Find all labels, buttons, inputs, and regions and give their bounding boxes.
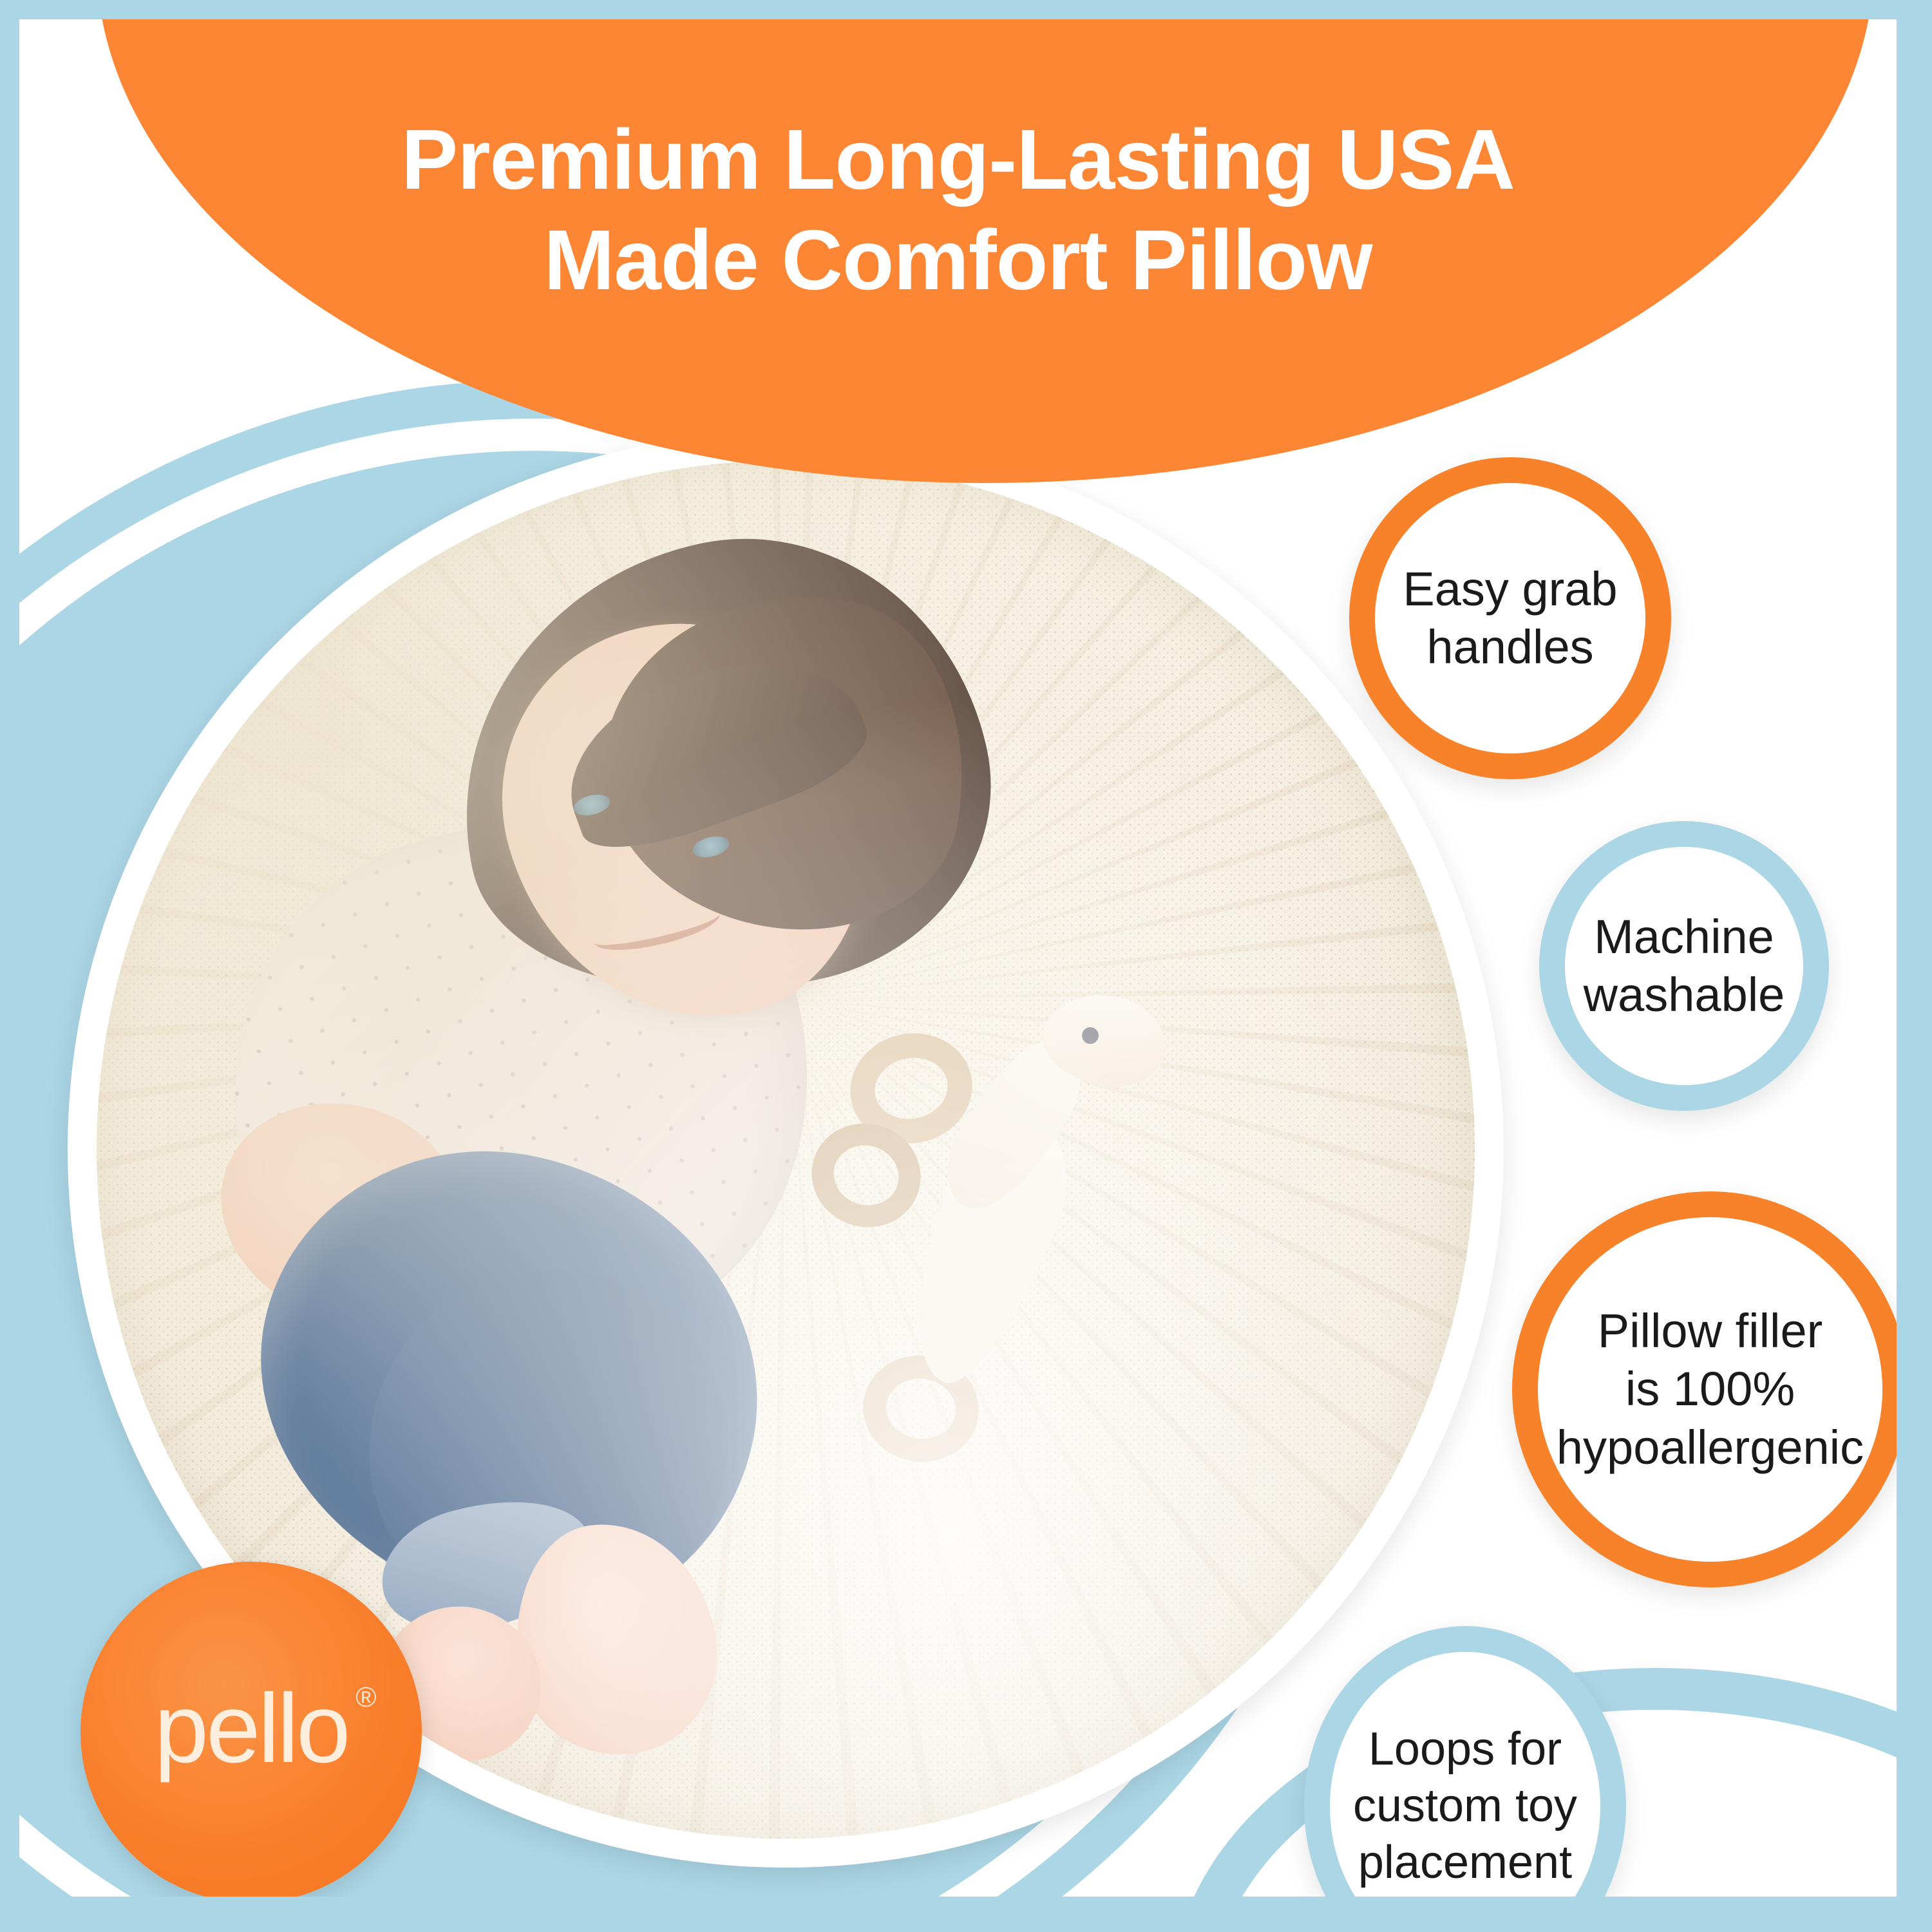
feature-label-machine-washable: Machinewashable: [1569, 908, 1799, 1025]
feature-label-easy-grab-handles: Easy grabhandles: [1388, 560, 1631, 677]
feature-bubble-machine-washable[interactable]: Machinewashable: [1539, 821, 1829, 1111]
page-title-line-2: Made Comfort Pillow: [544, 213, 1372, 307]
page-title-line-1: Premium Long-Lasting USA: [401, 112, 1515, 207]
page-title: Premium Long-Lasting USA Made Comfort Pi…: [19, 109, 1897, 310]
feature-bubble-hypoallergenic[interactable]: Pillow filleris 100%hypoallergenic: [1512, 1191, 1897, 1587]
pello-logo-badge[interactable]: pello ®: [80, 1562, 422, 1897]
pello-logo-text: pello: [154, 1674, 348, 1783]
page-frame: Premium Long-Lasting USA Made Comfort Pi…: [0, 0, 1932, 1932]
registered-trademark-icon: ®: [355, 1683, 376, 1712]
feature-label-hypoallergenic: Pillow filleris 100%hypoallergenic: [1542, 1302, 1878, 1477]
feature-bubble-easy-grab-handles[interactable]: Easy grabhandles: [1349, 457, 1671, 779]
content-card: Premium Long-Lasting USA Made Comfort Pi…: [19, 19, 1897, 1897]
pello-wordmark: pello ®: [154, 1680, 348, 1777]
feature-label-toy-loops: Loops forcustom toyplacement: [1339, 1721, 1591, 1891]
